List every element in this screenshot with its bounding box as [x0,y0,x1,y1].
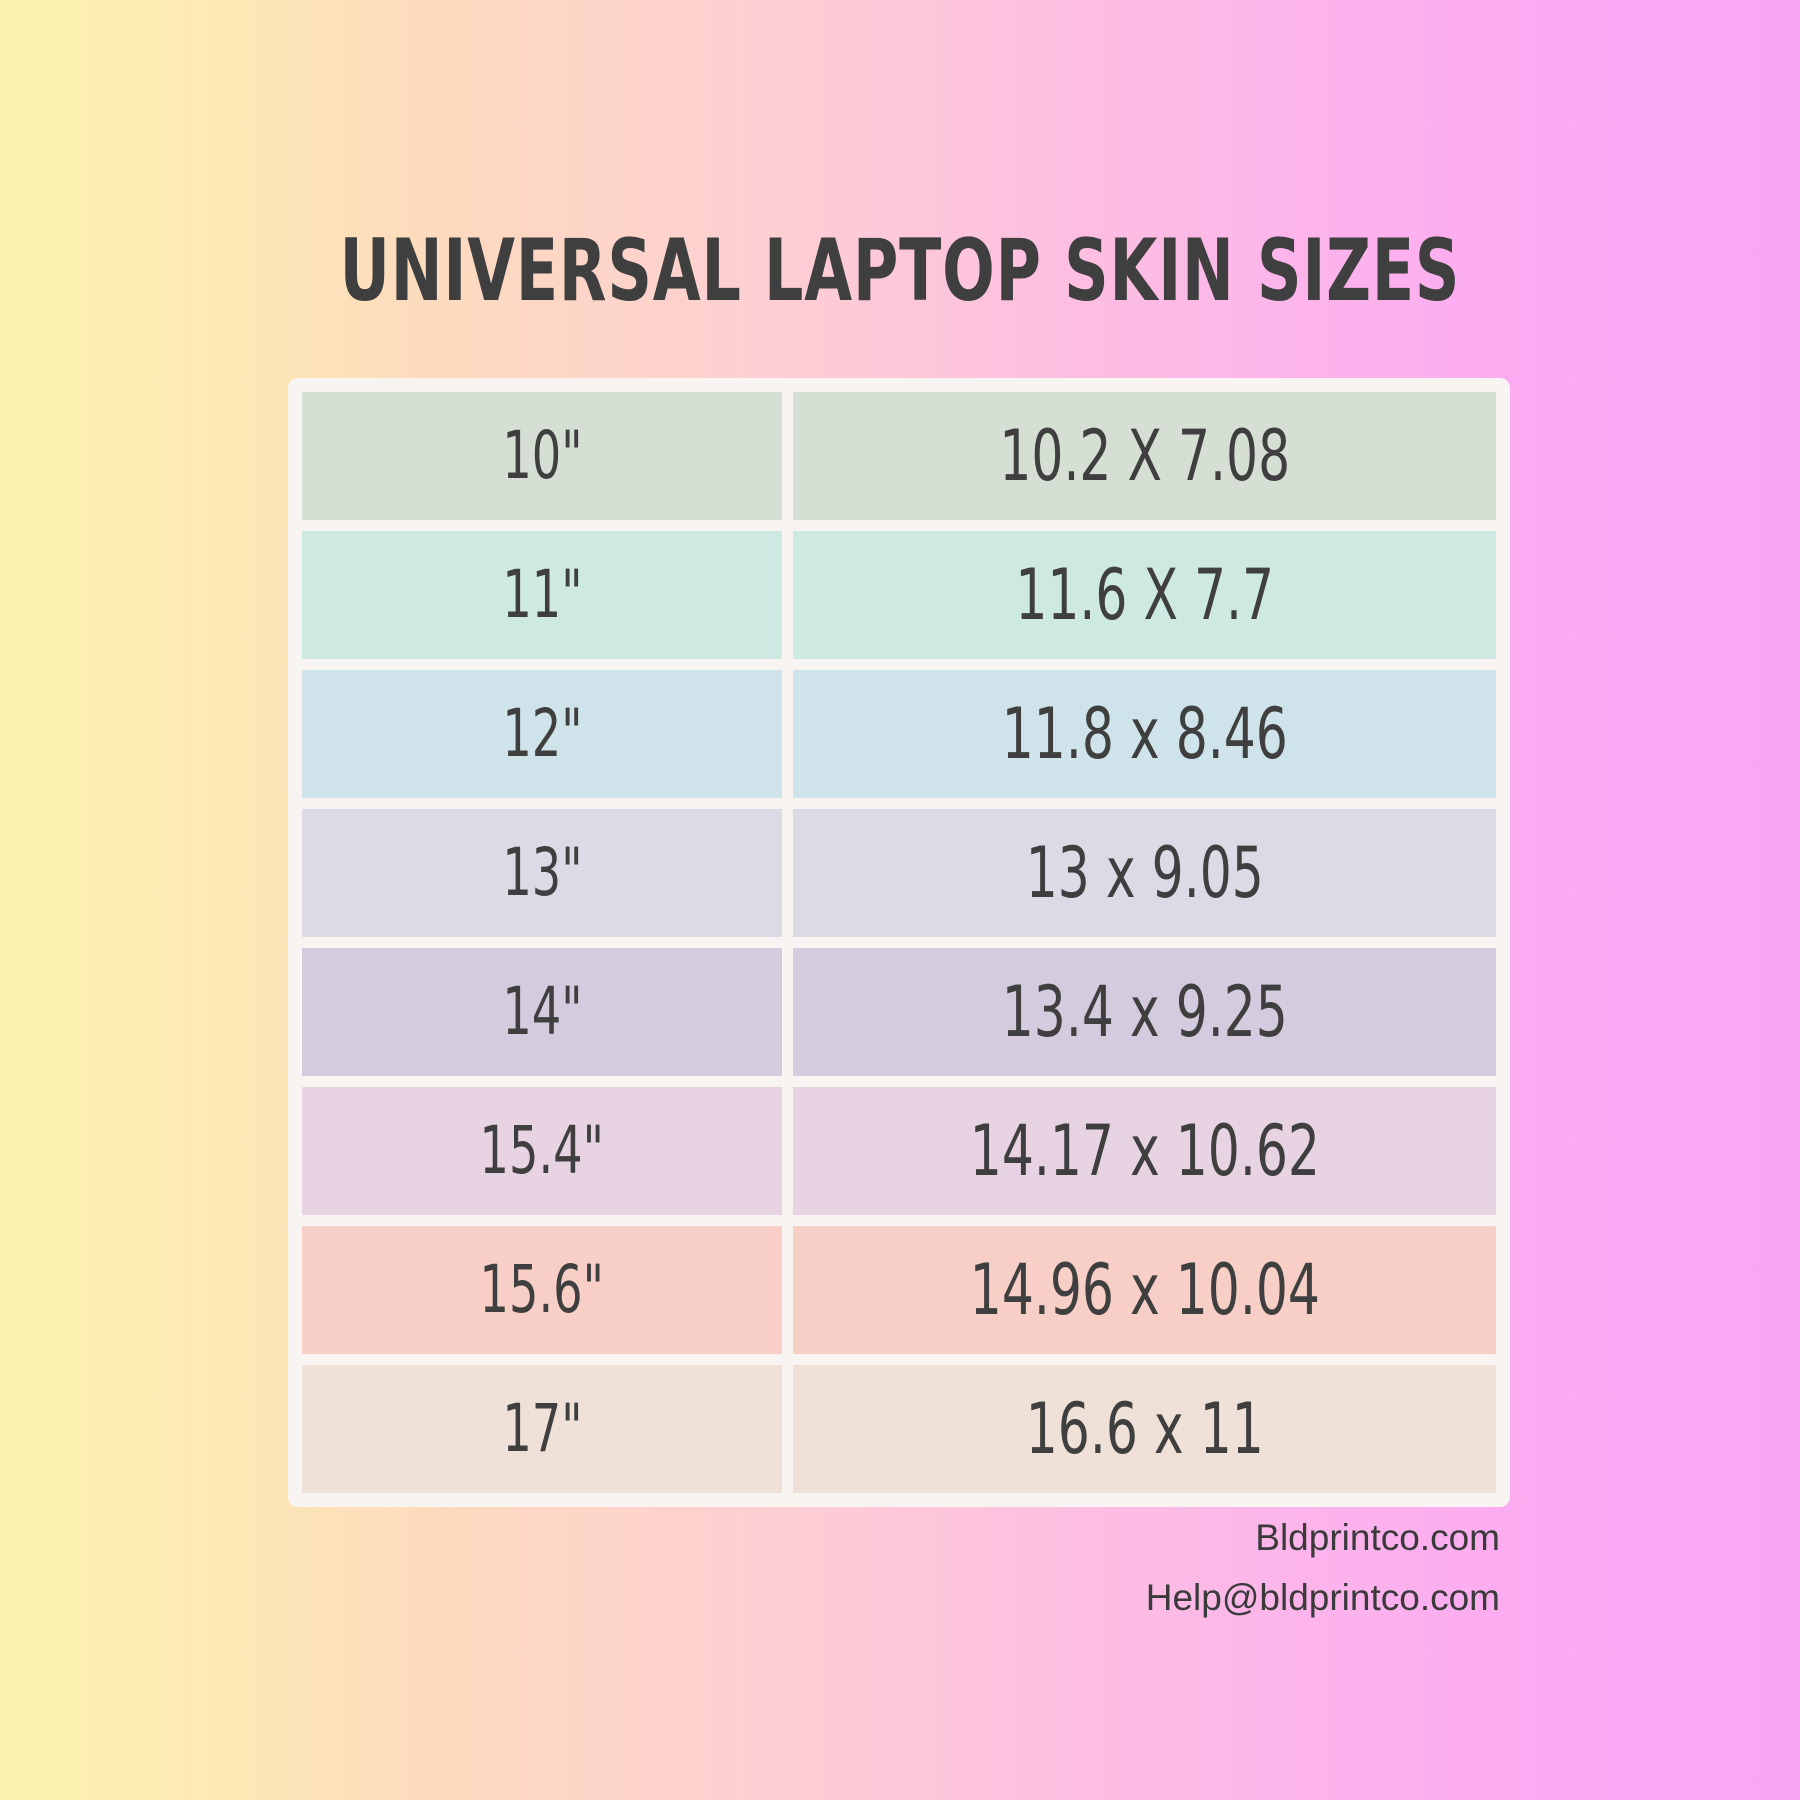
cell-laptop-size: 12" [302,670,782,798]
footer-website[interactable]: Bldprintco.com [1146,1508,1500,1568]
cell-laptop-size-text: 14" [502,979,582,1045]
cell-laptop-size-text: 10" [502,423,582,489]
cell-laptop-size: 14" [302,948,782,1076]
cell-laptop-size-text: 11" [502,562,582,628]
cell-skin-dimensions-text: 14.96 x 10.04 [969,1255,1319,1325]
table-row: 12"11.8 x 8.46 [302,670,1496,798]
footer-email[interactable]: Help@bldprintco.com [1146,1568,1500,1628]
cell-skin-dimensions: 10.2 X 7.08 [793,392,1496,520]
cell-skin-dimensions: 11.8 x 8.46 [793,670,1496,798]
table-row: 10"10.2 X 7.08 [302,392,1496,520]
cell-laptop-size: 15.4" [302,1087,782,1215]
cell-laptop-size: 17" [302,1365,782,1493]
cell-skin-dimensions: 14.96 x 10.04 [793,1226,1496,1354]
cell-laptop-size: 13" [302,809,782,937]
cell-skin-dimensions: 13 x 9.05 [793,809,1496,937]
cell-laptop-size-text: 12" [502,701,582,767]
cell-skin-dimensions: 11.6 X 7.7 [793,531,1496,659]
cell-skin-dimensions-text: 14.17 x 10.62 [969,1116,1319,1186]
cell-laptop-size: 11" [302,531,782,659]
cell-laptop-size-text: 15.4" [480,1118,604,1184]
cell-skin-dimensions-text: 11.6 X 7.7 [1015,560,1274,630]
table-row: 13"13 x 9.05 [302,809,1496,937]
cell-skin-dimensions-text: 13.4 x 9.25 [1001,977,1287,1047]
page-title: UNIVERSAL LAPTOP SKIN SIZES [180,228,1620,314]
cell-laptop-size-text: 13" [502,840,582,906]
table-row: 17"16.6 x 11 [302,1365,1496,1493]
cell-skin-dimensions: 13.4 x 9.25 [793,948,1496,1076]
table-row: 11"11.6 X 7.7 [302,531,1496,659]
cell-laptop-size: 15.6" [302,1226,782,1354]
table-row: 15.4"14.17 x 10.62 [302,1087,1496,1215]
footer-contact: Bldprintco.com Help@bldprintco.com [1146,1508,1500,1628]
cell-laptop-size-text: 17" [502,1396,582,1462]
cell-laptop-size: 10" [302,392,782,520]
cell-skin-dimensions-text: 13 x 9.05 [1025,838,1263,908]
cell-skin-dimensions-text: 11.8 x 8.46 [1001,699,1287,769]
page-title-container: UNIVERSAL LAPTOP SKIN SIZES [0,228,1800,314]
cell-skin-dimensions: 14.17 x 10.62 [793,1087,1496,1215]
size-chart-table: 10"10.2 X 7.0811"11.6 X 7.712"11.8 x 8.4… [288,378,1510,1507]
cell-skin-dimensions: 16.6 x 11 [793,1365,1496,1493]
table-row: 15.6"14.96 x 10.04 [302,1226,1496,1354]
cell-skin-dimensions-text: 10.2 X 7.08 [999,421,1290,491]
cell-laptop-size-text: 15.6" [480,1257,604,1323]
table-row: 14"13.4 x 9.25 [302,948,1496,1076]
cell-skin-dimensions-text: 16.6 x 11 [1025,1394,1263,1464]
